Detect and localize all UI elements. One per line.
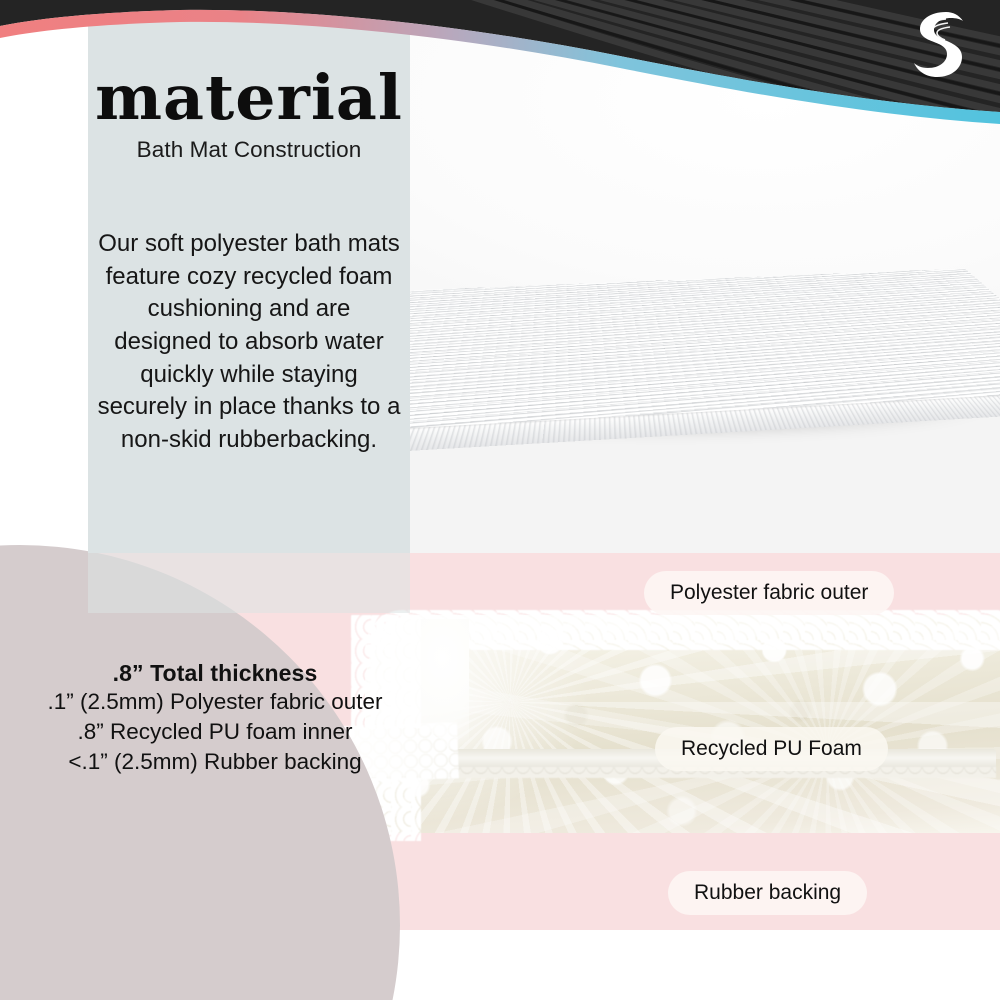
spec-line-outer: .1” (2.5mm) Polyester fabric outer [20, 687, 410, 717]
title-block: material Bath Mat Construction [88, 68, 410, 163]
left-panel-overlap [88, 553, 410, 613]
swoosh-s-monogram-logo [900, 8, 966, 80]
foam-core-layer [365, 615, 1000, 833]
callout-polyester-fabric-outer: Polyester fabric outer [644, 571, 894, 615]
spec-line-rubber: <.1” (2.5mm) Rubber backing [20, 747, 410, 777]
page-title: material [85, 68, 413, 128]
intro-body-text: Our soft polyester bath mats feature coz… [88, 228, 410, 456]
thickness-spec-list: .8” Total thickness .1” (2.5mm) Polyeste… [20, 660, 410, 777]
total-thickness-label: .8” Total thickness [20, 660, 410, 687]
page-subtitle: Bath Mat Construction [88, 137, 410, 163]
callout-rubber-backing: Rubber backing [668, 871, 867, 915]
spec-line-foam: .8” Recycled PU foam inner [20, 717, 410, 747]
callout-recycled-pu-foam: Recycled PU Foam [655, 727, 888, 771]
material-infographic: material Bath Mat Construction Our soft … [0, 0, 1000, 1000]
